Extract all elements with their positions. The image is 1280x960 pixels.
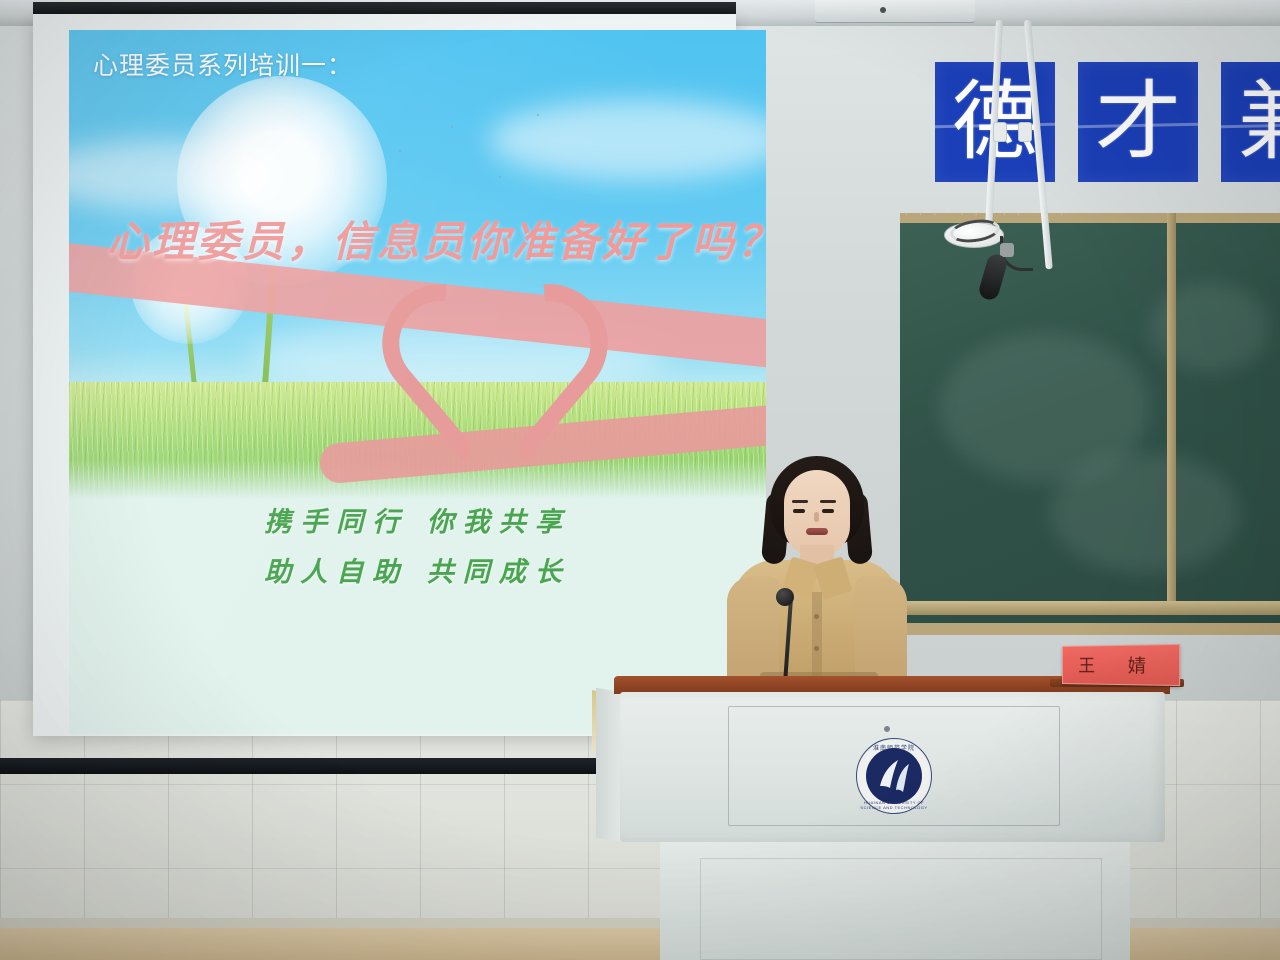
floating-seed <box>499 176 501 178</box>
floating-seed <box>451 126 453 128</box>
speaker-eye-right <box>822 509 834 513</box>
cloud <box>489 100 766 180</box>
logo-emblem <box>866 748 922 804</box>
slide-slogan-line-2: 助人自助 共同成长 <box>69 550 766 589</box>
logo-bird-icon <box>876 756 912 796</box>
chalkboard-divider <box>1167 213 1176 613</box>
university-logo-icon: 淮南师范学院 HUAINAN UNIVERSITY OF SCIENCE AND… <box>856 738 932 814</box>
podium-base-panel <box>700 858 1102 960</box>
chalkboard-ledge <box>898 601 1280 615</box>
speaker-nose <box>814 512 819 522</box>
wall-placard-3: 兼 <box>1221 62 1280 182</box>
pole-joint <box>993 122 1007 142</box>
nameplate-text: 王 婧 <box>1063 651 1179 678</box>
pole-joint <box>1018 122 1032 142</box>
chalk-smudge <box>1050 453 1240 573</box>
microphone-clip <box>1000 243 1014 257</box>
shirt-button <box>814 646 819 651</box>
slide-kicker-text: 心理委员系列培训一： <box>93 46 353 82</box>
speaker-shirt-placket <box>812 592 822 682</box>
ceiling-sensor-icon <box>880 7 886 13</box>
wall-placard-2: 才 <box>1078 62 1198 182</box>
slide-slogan-line-1: 携手同行 你我共享 <box>69 500 766 539</box>
wall-placard-3-char: 兼 <box>1221 79 1280 165</box>
heart-outline-icon <box>399 278 609 478</box>
wall-placard-2-char: 才 <box>1078 79 1198 165</box>
chalkboard-faint-writing: . . . ' . . , . . · . . <box>905 206 1275 222</box>
floating-seed <box>537 114 539 116</box>
speaker-eye-left <box>793 509 805 513</box>
podium-screw-icon <box>884 726 890 732</box>
ceiling-fixture <box>815 0 975 23</box>
projection-screen: 心理委员系列培训一： 心理委员，信息员你准备好了吗？ 携手同行 你我共享 助人自… <box>33 14 736 736</box>
floating-seed <box>399 150 401 152</box>
slide-title-text: 心理委员，信息员你准备好了吗？ <box>107 208 747 269</box>
shirt-button <box>814 614 819 619</box>
speaker-brow-right <box>820 500 836 503</box>
speaker-brow-left <box>792 500 808 503</box>
presentation-slide: 心理委员系列培训一： 心理委员，信息员你准备好了吗？ 携手同行 你我共享 助人自… <box>69 30 766 734</box>
speaker-nameplate: 王 婧 <box>1062 644 1180 686</box>
classroom-photo-scene: 德 才 兼 . . . ' . . , . . · . . <box>0 0 1280 960</box>
logo-english-text: HUAINAN UNIVERSITY OF SCIENCE AND TECHNO… <box>857 800 931 810</box>
speaker-mouth <box>806 528 828 535</box>
podium-microphone-icon <box>776 588 794 606</box>
chalkboard <box>900 213 1280 635</box>
